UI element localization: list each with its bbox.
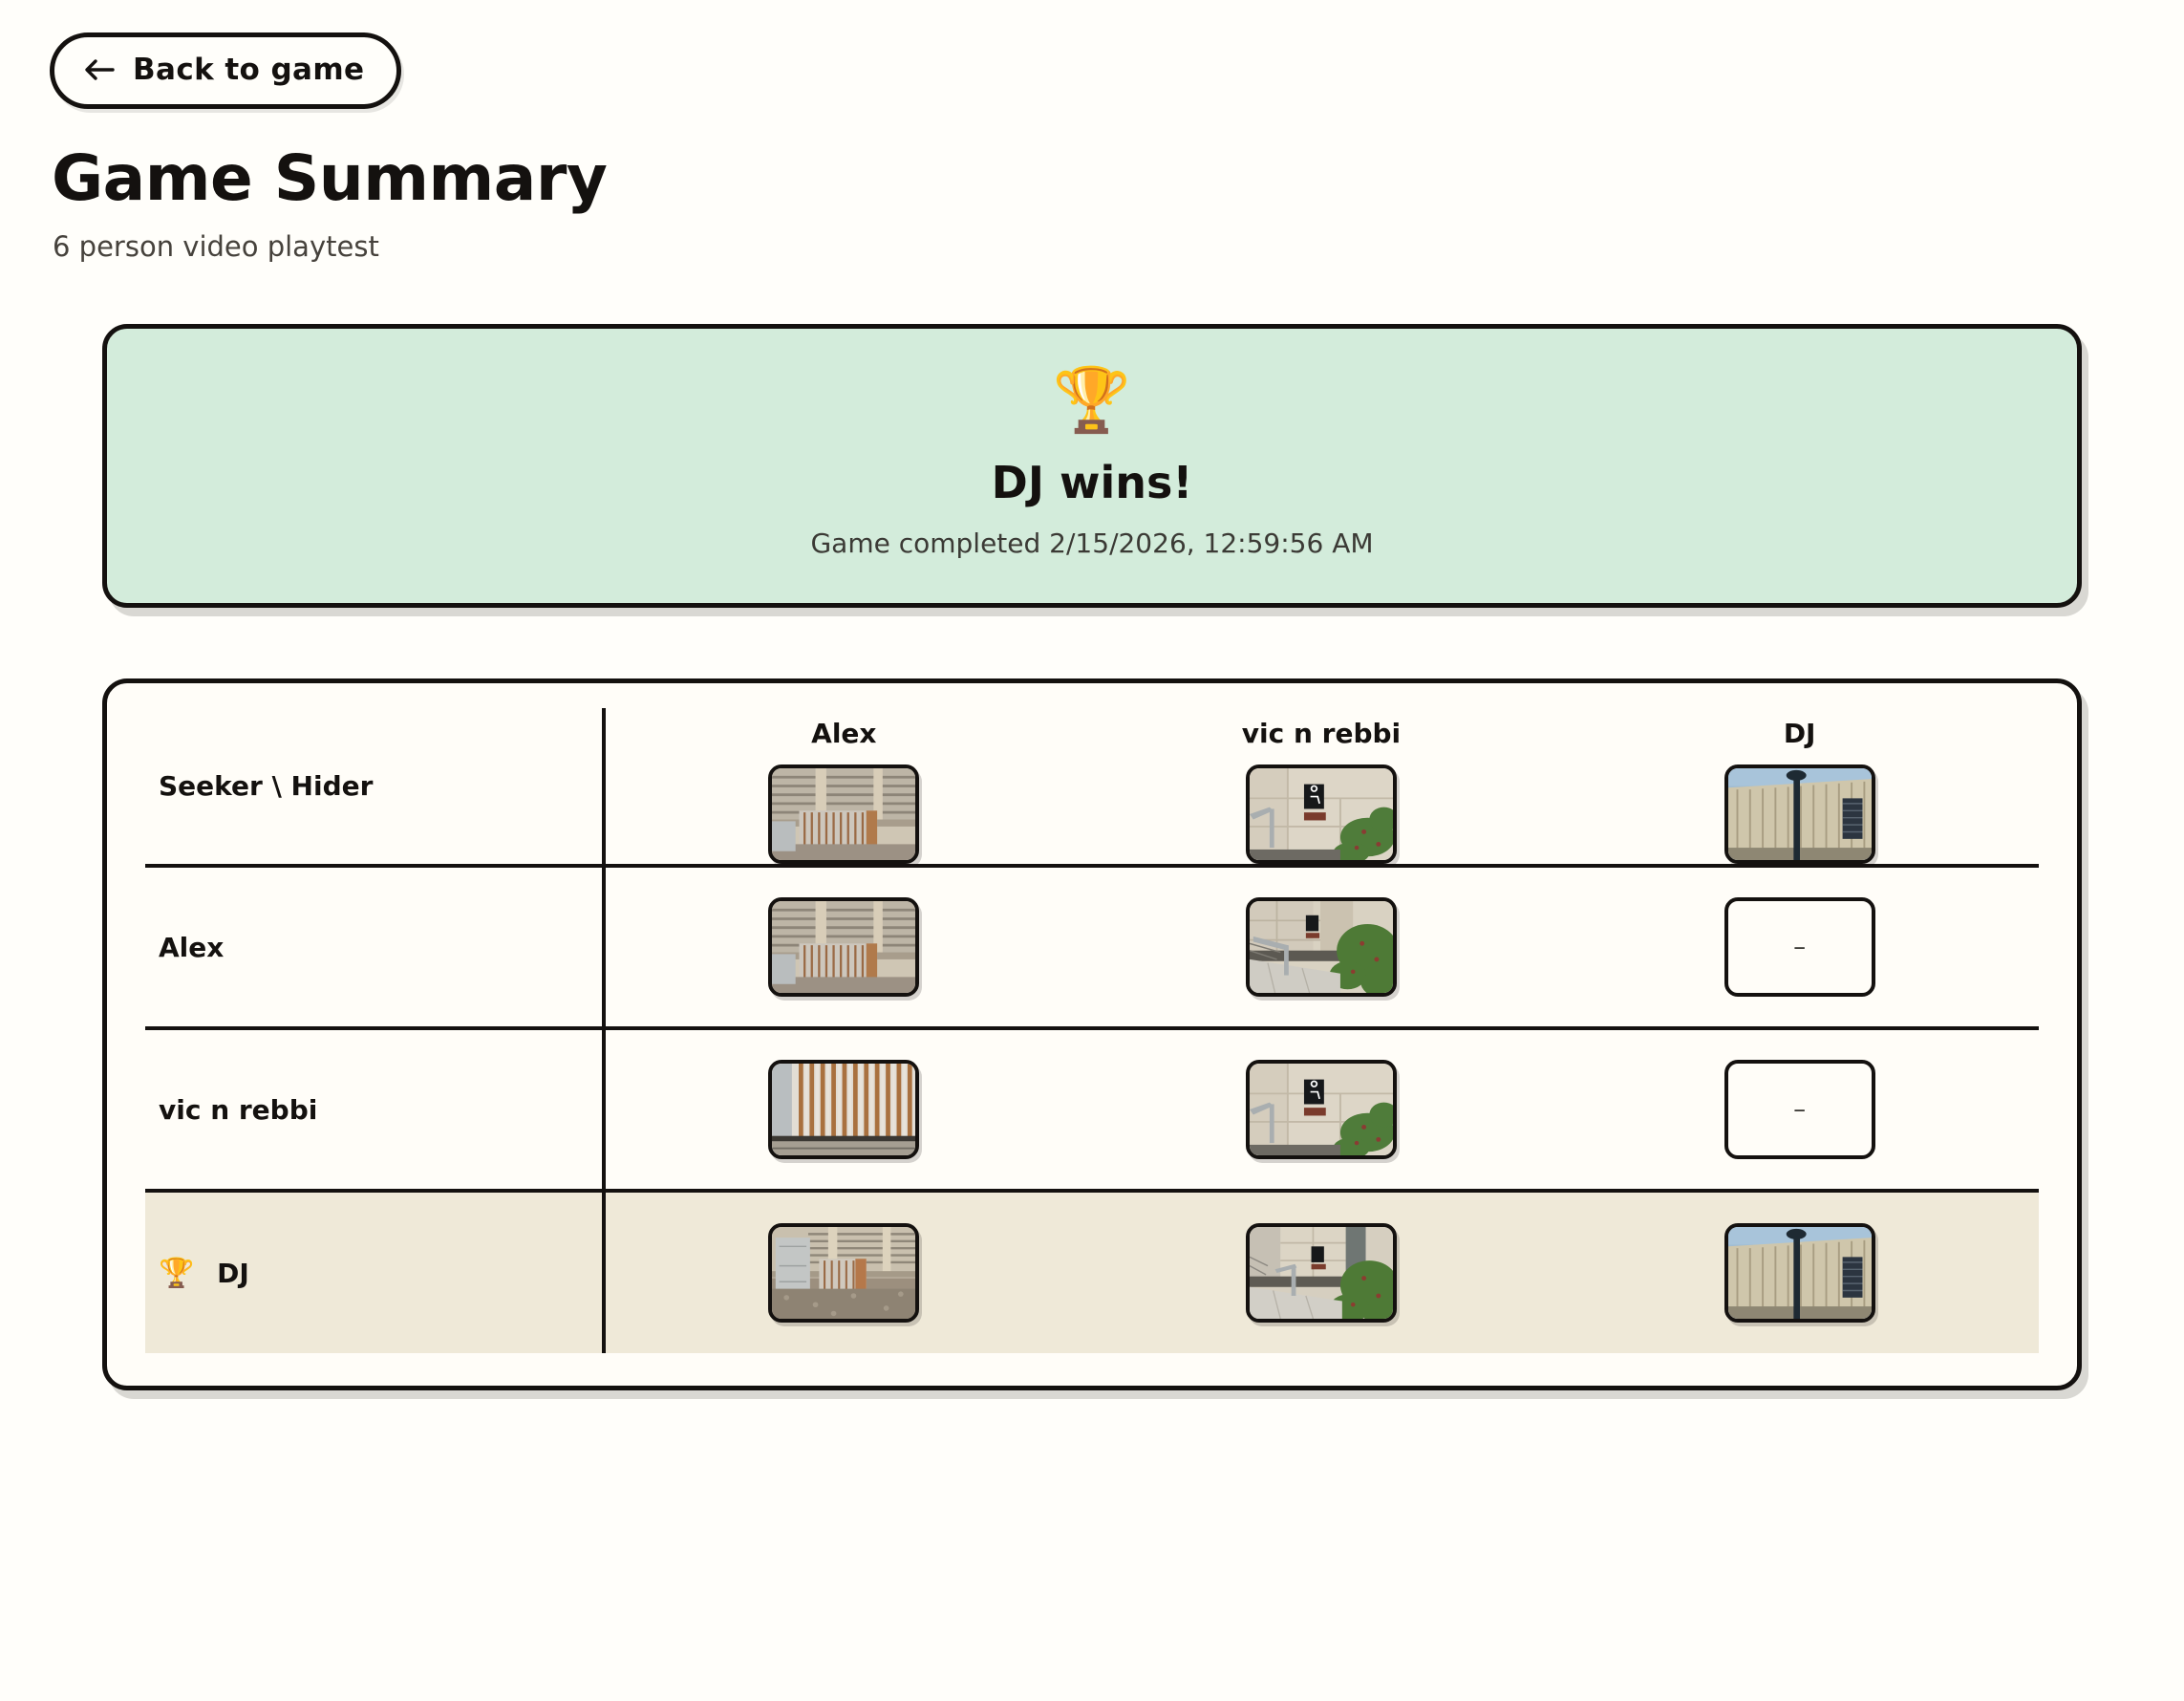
empty-cell-placeholder: – <box>1724 1060 1875 1159</box>
column-header-label: DJ <box>1560 718 2039 749</box>
matrix-column-header-dj: DJ <box>1560 708 2039 866</box>
game-summary-page: Back to game Game Summary 6 person video… <box>0 0 2184 1701</box>
seeker-hider-matrix-card: Seeker \ Hider Alex <box>102 678 2082 1390</box>
winner-banner: 🏆 DJ wins! Game completed 2/15/2026, 12:… <box>102 324 2082 608</box>
game-completed-timestamp: Game completed 2/15/2026, 12:59:56 AM <box>126 528 2058 559</box>
table-row: 🏆 DJ <box>145 1191 2039 1353</box>
thumbnail-rusty-gate-building[interactable] <box>768 764 919 864</box>
matrix-cell <box>1560 1191 2039 1353</box>
row-label-dj: 🏆 DJ <box>145 1191 604 1353</box>
matrix-cell: – <box>1560 866 2039 1028</box>
thumbnail-utility-cabinets-gravel[interactable] <box>768 1223 919 1323</box>
table-row: vic n rebbi <box>145 1028 2039 1191</box>
thumbnail-rusty-gate-building[interactable] <box>768 897 919 997</box>
thumbnail-walkway-sign-shrub-wide[interactable] <box>1246 1223 1397 1323</box>
back-to-game-button[interactable]: Back to game <box>50 32 401 109</box>
trophy-icon: 🏆 <box>126 369 2058 432</box>
row-label-alex: Alex <box>145 866 604 1028</box>
matrix-cell <box>604 1028 1082 1191</box>
row-label-text: vic n rebbi <box>159 1094 317 1126</box>
matrix-corner-label: Seeker \ Hider <box>145 708 604 866</box>
matrix-header-row: Seeker \ Hider Alex <box>145 708 2039 866</box>
seeker-hider-matrix: Seeker \ Hider Alex <box>145 708 2039 1353</box>
thumbnail-rusty-bars-closeup[interactable] <box>768 1060 919 1159</box>
matrix-cell <box>1082 1191 1561 1353</box>
arrow-left-icon <box>83 56 116 83</box>
page-subtitle: 6 person video playtest <box>53 230 2134 263</box>
matrix-cell: – <box>1560 1028 2039 1191</box>
row-label-text: DJ <box>217 1258 249 1289</box>
column-header-label: vic n rebbi <box>1082 718 1561 749</box>
thumbnail-accessible-sign-wall[interactable] <box>1246 764 1397 864</box>
matrix-cell <box>1082 866 1561 1028</box>
thumbnail-lamppost-concrete-building[interactable] <box>1724 764 1875 864</box>
matrix-column-header-alex: Alex <box>604 708 1082 866</box>
empty-cell-placeholder: – <box>1724 897 1875 997</box>
row-label-text: Alex <box>159 932 224 963</box>
table-row: Alex <box>145 866 2039 1028</box>
trophy-icon: 🏆 <box>159 1257 194 1290</box>
matrix-cell <box>604 1191 1082 1353</box>
winner-text: DJ wins! <box>126 457 2058 508</box>
matrix-cell <box>604 866 1082 1028</box>
column-header-label: Alex <box>606 718 1082 749</box>
matrix-column-header-vic-n-rebbi: vic n rebbi <box>1082 708 1561 866</box>
row-label-vic-n-rebbi: vic n rebbi <box>145 1028 604 1191</box>
page-title: Game Summary <box>52 145 2134 211</box>
thumbnail-walkway-sign-shrub[interactable] <box>1246 897 1397 997</box>
back-to-game-label: Back to game <box>133 53 364 87</box>
matrix-cell <box>1082 1028 1561 1191</box>
thumbnail-accessible-sign-wall[interactable] <box>1246 1060 1397 1159</box>
thumbnail-lamppost-concrete-building[interactable] <box>1724 1223 1875 1323</box>
